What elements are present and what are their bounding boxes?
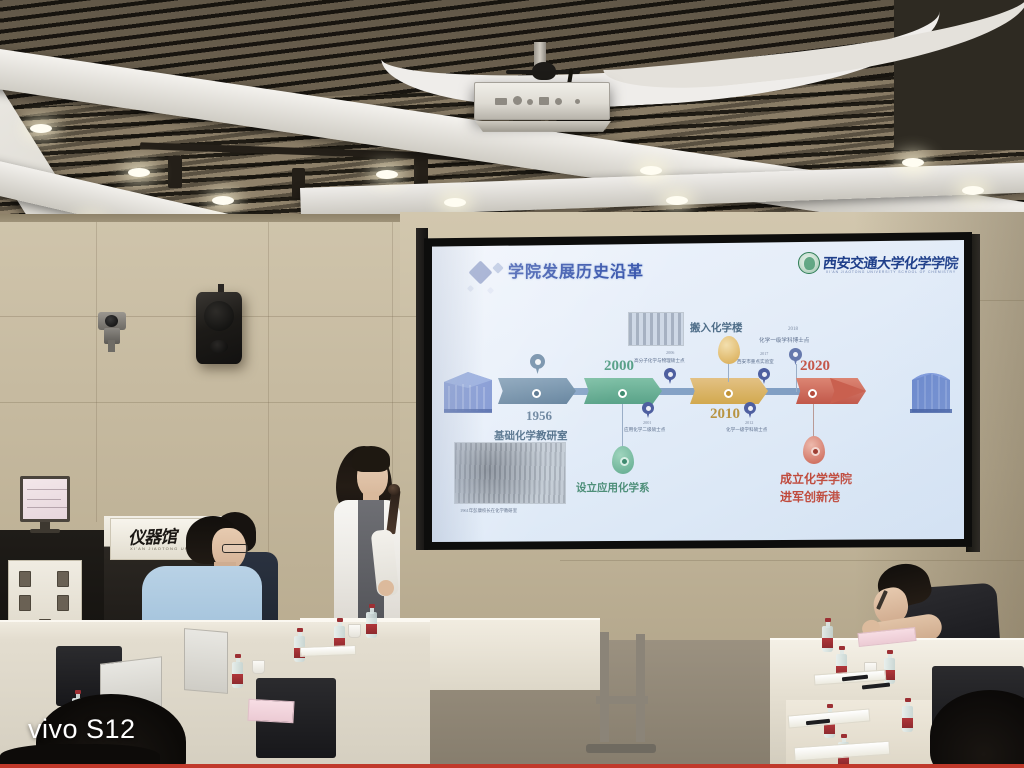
control-monitor[interactable] xyxy=(20,476,70,532)
new-building-illustration xyxy=(906,364,956,414)
map-pin-icon-2017 xyxy=(758,368,770,384)
timeline-year-2001: 2001 xyxy=(643,420,651,425)
wall-camera xyxy=(96,312,130,342)
timeline-caption-1956: 基础化学教研室 xyxy=(494,428,568,443)
timeline-label-2006: 高分子化学与物理硕士点 xyxy=(634,358,685,364)
document-sheet[interactable] xyxy=(300,645,356,657)
ceiling-downlight xyxy=(376,170,398,179)
timeline-node-2010 xyxy=(724,389,733,398)
org-logo-subtext: XI'AN JIAOTONG UNIVERSITY SCHOOL OF CHEM… xyxy=(826,270,956,274)
ceiling-downlight xyxy=(962,186,984,195)
timeline-year-2017: 2017 xyxy=(760,351,768,356)
historical-photo-caption: 1961年彭康校长在化学教研室 xyxy=(460,508,517,514)
ceiling-downlight xyxy=(666,196,688,205)
wall-seam-vertical xyxy=(96,222,97,522)
podium-calligraphy: 仪器馆 xyxy=(128,522,177,549)
timeline-year-2006: 2006 xyxy=(666,350,674,355)
timeline-label-2012: 化学一级学科硕士点 xyxy=(726,427,767,433)
map-pin-icon-2006 xyxy=(664,368,676,384)
timeline-label-2017: 西安市重点实验室 xyxy=(737,359,774,365)
ceiling-downlight xyxy=(212,196,234,205)
photo-scene: 学院发展历史沿革 西安交通大学化学学院 XI'AN JIAOTONG UNIVE… xyxy=(0,0,1024,768)
wall-seam-vertical xyxy=(268,222,269,552)
timeline-label-2018: 化学一级学科博士点 xyxy=(759,336,809,344)
projection-screen: 学院发展历史沿革 西安交通大学化学学院 XI'AN JIAOTONG UNIVE… xyxy=(432,240,964,542)
ceiling-downlight xyxy=(30,124,52,133)
ceiling-duct-a xyxy=(168,156,182,188)
bottom-accent-bar xyxy=(0,764,1024,768)
chemistry-building-photo xyxy=(628,312,684,346)
timeline-caption-2000: 设立应用化学系 xyxy=(576,480,650,495)
ceiling-downlight xyxy=(444,198,466,207)
water-bottle[interactable] xyxy=(232,654,243,688)
timeline-year-2010: 2010 xyxy=(710,406,740,423)
wall-seam xyxy=(560,560,1024,561)
camera-watermark: vivo S12 xyxy=(28,714,136,745)
ceiling-downlight xyxy=(902,158,924,167)
timeline-year-2020: 2020 xyxy=(800,358,830,375)
pink-document[interactable] xyxy=(247,699,294,723)
projector-ports xyxy=(495,95,591,109)
paper-cup[interactable] xyxy=(348,624,361,638)
timeline-year-1956: 1956 xyxy=(526,408,552,424)
water-bottle[interactable] xyxy=(902,698,913,732)
table-leg xyxy=(600,632,609,742)
title-diamond-tiny-icon xyxy=(487,287,494,294)
timeline-node-2020 xyxy=(808,389,817,398)
wall-speaker xyxy=(196,292,242,364)
ceiling xyxy=(0,0,1024,232)
final-caption-line1: 成立化学学院 xyxy=(780,470,852,487)
timeline-year-2018: 2018 xyxy=(788,327,798,332)
monitor-base xyxy=(30,529,60,533)
timeline-node-1956 xyxy=(532,389,541,398)
map-pin-icon-2012 xyxy=(744,402,756,418)
title-diamond-tiny-icon xyxy=(467,285,474,292)
wall-seam xyxy=(0,402,420,403)
slide: 学院发展历史沿革 西安交通大学化学学院 XI'AN JIAOTONG UNIVE… xyxy=(432,240,964,542)
map-pin-icon-2001 xyxy=(642,402,654,418)
title-diamond-icon xyxy=(468,260,492,284)
timeline-stem-2000 xyxy=(622,404,623,448)
timeline-node-2000 xyxy=(618,389,627,398)
ceiling-downlight xyxy=(128,168,150,177)
map-pin-icon-1956 xyxy=(530,354,545,374)
ceiling-downlight xyxy=(640,166,662,175)
old-building-illustration xyxy=(442,368,494,414)
timeline-stem-2020 xyxy=(813,404,814,440)
table-crossbar xyxy=(596,696,648,704)
slide-title: 学院发展历史沿革 xyxy=(508,258,644,282)
balloon-dot-2020 xyxy=(811,447,820,456)
table-leg xyxy=(636,634,645,742)
title-diamond-small-icon xyxy=(492,262,503,273)
university-seal-icon xyxy=(798,252,820,274)
laptop[interactable] xyxy=(184,628,228,694)
projector xyxy=(474,82,610,120)
water-bottle[interactable] xyxy=(366,604,377,638)
historical-photo xyxy=(454,442,566,504)
balloon-dot-2000 xyxy=(620,457,629,466)
table-foot xyxy=(586,744,656,753)
timeline-year-2000: 2000 xyxy=(604,358,634,375)
monitor-screen xyxy=(20,476,70,522)
final-caption-line2: 进军创新港 xyxy=(780,488,840,505)
glasses-icon xyxy=(222,544,248,553)
paper-cup[interactable] xyxy=(252,660,265,674)
microphone-head xyxy=(388,484,400,495)
timeline-caption-2010: 搬入化学楼 xyxy=(690,320,743,335)
timeline-label-2001: 应用化学二级硕士点 xyxy=(624,427,665,433)
water-bottle[interactable] xyxy=(822,618,833,652)
timeline-year-2012: 2012 xyxy=(745,420,753,425)
